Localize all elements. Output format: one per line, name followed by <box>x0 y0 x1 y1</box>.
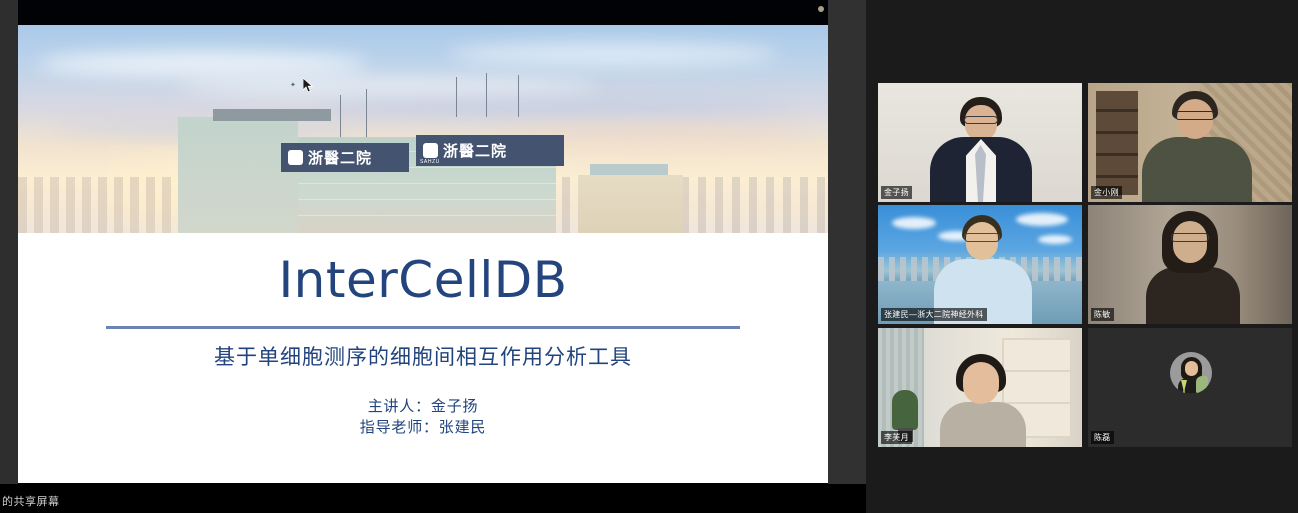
hospital-sign-acronym: SAHZU <box>420 159 440 165</box>
slide-title: InterCellDB <box>18 251 828 309</box>
participant-video-feed <box>878 328 1082 447</box>
participant-name-label: 李芙月 <box>881 431 912 444</box>
participant-video-feed <box>1088 328 1292 447</box>
bird-icon: ✦ <box>290 81 296 89</box>
hospital-sign-right: 浙醫二院 SAHZU <box>416 135 564 166</box>
slide-body: InterCellDB 基于单细胞测序的细胞间相互作用分析工具 主讲人：金子扬 … <box>18 233 828 483</box>
participant-name-label: 陈敏 <box>1091 308 1114 321</box>
participant-tile[interactable]: 陈磊 <box>1088 328 1292 447</box>
meeting-screen: ✦ 浙醫二院 <box>0 0 1298 513</box>
presentation-slide: ✦ 浙醫二院 <box>18 25 828 483</box>
participant-name-label: 金子扬 <box>881 186 912 199</box>
sahzu-logo-icon <box>288 150 303 165</box>
hospital-roof-cap <box>213 109 331 121</box>
hospital-tower <box>178 117 298 233</box>
participant-video-feed <box>1088 205 1292 324</box>
share-top-strip <box>18 0 828 25</box>
cloud-shape <box>448 43 778 65</box>
cloud-shape <box>318 99 788 116</box>
slide-subtitle: 基于单细胞测序的细胞间相互作用分析工具 <box>18 341 828 371</box>
hospital-sign-right-text: 浙醫二院 <box>443 140 507 161</box>
participant-video-feed <box>878 205 1082 324</box>
cursor-highlight-dot <box>818 6 824 12</box>
share-status-bar <box>0 484 866 513</box>
sahzu-logo-icon <box>423 143 438 158</box>
participant-video-feed <box>1088 83 1292 202</box>
share-left-gutter <box>0 0 18 484</box>
participant-tile[interactable]: 李芙月 <box>878 328 1082 447</box>
participant-tile[interactable]: 陈敏 <box>1088 205 1292 324</box>
shared-screen-region: ✦ 浙醫二院 <box>0 0 866 513</box>
share-status-label: 的共享屏幕 <box>2 493 60 509</box>
cloud-shape <box>178 77 598 97</box>
participant-tile[interactable]: 金子扬 <box>878 83 1082 202</box>
slide-presenter-block: 主讲人：金子扬 指导老师：张建民 <box>18 396 828 438</box>
slide-banner-photo: ✦ 浙醫二院 <box>18 25 828 233</box>
avatar <box>1170 352 1212 394</box>
participant-name-label: 金小刚 <box>1091 186 1122 199</box>
slide-title-divider <box>106 326 740 329</box>
hospital-sign-left: 浙醫二院 <box>281 143 409 172</box>
cloud-shape <box>38 51 368 77</box>
participant-video-grid: 金子扬 金小刚 <box>866 0 1298 513</box>
participant-video-feed <box>878 83 1082 202</box>
hospital-sign-left-text: 浙醫二院 <box>308 147 372 168</box>
secondary-building <box>578 175 683 233</box>
participant-tile[interactable]: 张建民—浙大二院神经外科 <box>878 205 1082 324</box>
slide-advisor-name: 指导老师：张建民 <box>18 417 828 438</box>
participant-tile[interactable]: 金小刚 <box>1088 83 1292 202</box>
slide-presenter-name: 主讲人：金子扬 <box>18 396 828 417</box>
participant-name-label: 陈磊 <box>1091 431 1114 444</box>
participant-name-label: 张建民—浙大二院神经外科 <box>881 308 987 321</box>
share-right-gutter <box>828 0 866 484</box>
